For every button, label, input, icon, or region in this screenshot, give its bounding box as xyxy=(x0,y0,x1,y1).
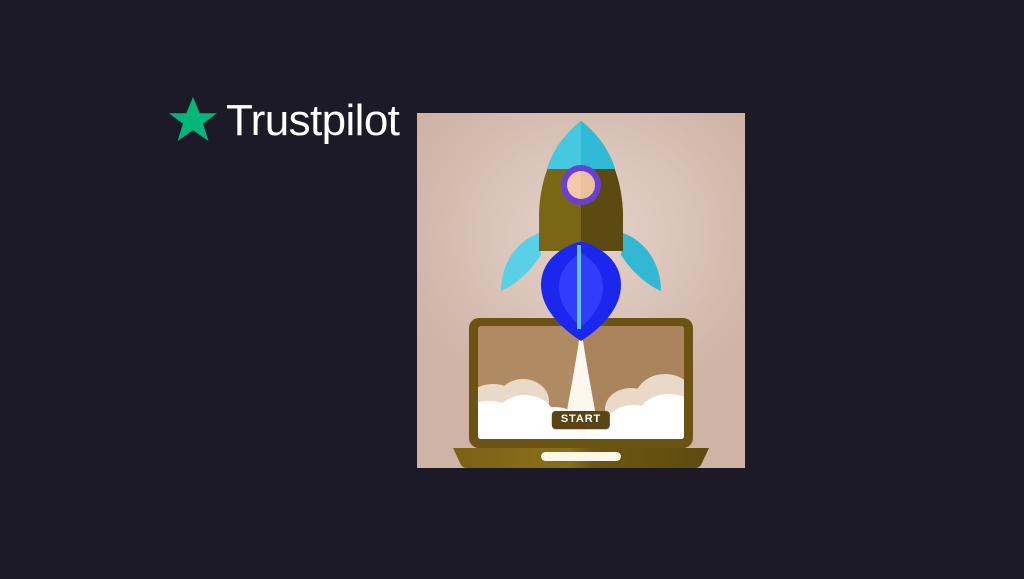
rocket-nose-cone-shadow xyxy=(581,121,615,169)
trustpilot-wordmark: Trustpilot xyxy=(226,99,399,143)
laptop-trackpad xyxy=(541,452,621,461)
rocket-laptop-illustration: START xyxy=(417,113,745,468)
rocket xyxy=(501,121,661,341)
start-button[interactable]: START xyxy=(552,411,610,429)
rocket-fin-left xyxy=(501,233,541,291)
page-canvas: Trustpilot xyxy=(0,0,1024,579)
rocket-fin-right xyxy=(621,233,661,291)
rocket-flame-core xyxy=(577,245,581,329)
trustpilot-logo[interactable]: Trustpilot xyxy=(168,92,399,148)
star-icon xyxy=(168,95,218,145)
